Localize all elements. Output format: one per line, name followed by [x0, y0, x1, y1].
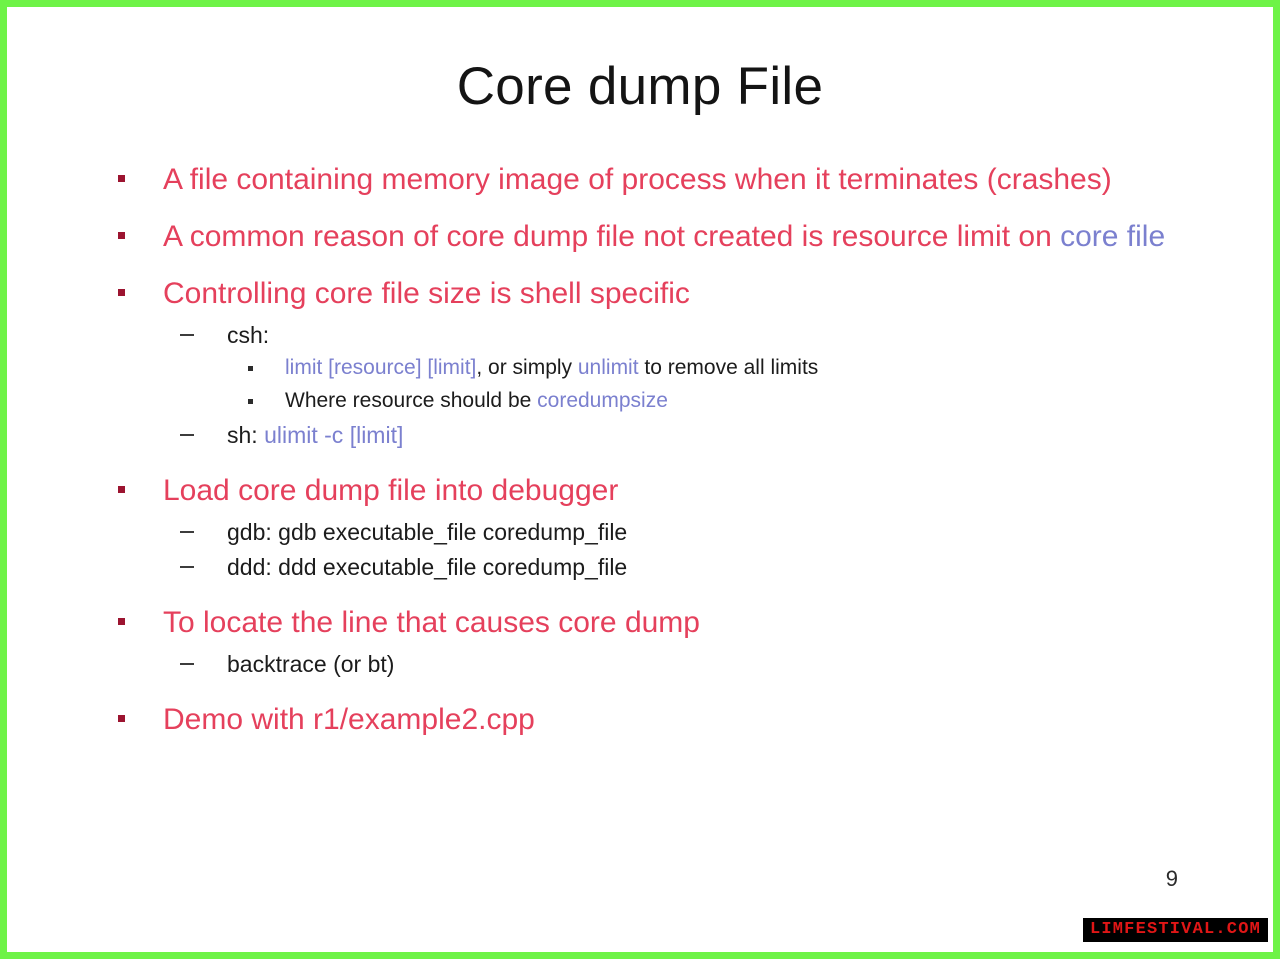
- bullet-text: , or simply: [476, 356, 578, 379]
- watermark-limfestival: LIMFESTIVAL.COM: [1083, 918, 1268, 942]
- bullet-level3-item: limit [resource] [limit], or simply unli…: [105, 353, 1215, 383]
- bullet-level1-item: A file containing memory image of proces…: [105, 159, 1215, 202]
- bullet-text: backtrace (or bt): [227, 651, 394, 677]
- bullet-dash-marker: [180, 663, 194, 665]
- bullet-text: Controlling core file size is shell spec…: [163, 277, 690, 310]
- bullet-level2-item: gdb: gdb executable_file coredump_file: [105, 516, 1215, 549]
- bullet-dash-marker: [180, 434, 194, 436]
- bullet-level2-item: sh: ulimit -c [limit]: [105, 419, 1215, 452]
- bullet-level1-item: Controlling core file size is shell spec…: [105, 273, 1215, 316]
- bullet-level1-item: Demo with r1/example2.cpp: [105, 699, 1215, 742]
- bullet-text: A common reason of core dump file not cr…: [163, 220, 1060, 253]
- slide-frame: Core dump File A file containing memory …: [0, 0, 1280, 959]
- slide-title: Core dump File: [7, 59, 1273, 115]
- bullet-level1-item: To locate the line that causes core dump: [105, 602, 1215, 645]
- bullet-dash-marker: [180, 531, 194, 533]
- bullet-text: To locate the line that causes core dump: [163, 606, 700, 639]
- code-term-coredumpsize: coredumpsize: [537, 389, 668, 412]
- slide-canvas: Core dump File A file containing memory …: [7, 7, 1273, 952]
- bullet-square-marker: [118, 715, 125, 722]
- bullet-square-marker: [118, 175, 125, 182]
- bullet-text: csh:: [227, 322, 269, 348]
- bullet-text: Where resource should be: [285, 389, 537, 412]
- bullet-text: to remove all limits: [639, 356, 819, 379]
- code-term-limit: limit [resource] [limit]: [285, 356, 476, 379]
- bullet-square-marker: [118, 289, 125, 296]
- bullet-text: ddd: ddd executable_file coredump_file: [227, 554, 627, 580]
- bullet-level3-item: Where resource should be coredumpsize: [105, 386, 1215, 416]
- bullet-dash-marker: [180, 566, 194, 568]
- bullet-text: sh:: [227, 422, 264, 448]
- bullet-square-marker: [118, 232, 125, 239]
- bullet-square-marker: [118, 486, 125, 493]
- code-term-ulimit: ulimit -c [limit]: [264, 422, 403, 448]
- bullet-text: Demo with r1/example2.cpp: [163, 703, 535, 736]
- bullet-square-marker: [118, 618, 125, 625]
- bullet-dash-marker: [180, 334, 194, 336]
- bullet-square-marker: [248, 399, 253, 404]
- slide-body-content: A file containing memory image of proces…: [105, 159, 1215, 744]
- bullet-level2-item: backtrace (or bt): [105, 648, 1215, 681]
- bullet-text: gdb: gdb executable_file coredump_file: [227, 519, 627, 545]
- bullet-text: A file containing memory image of proces…: [163, 163, 1112, 196]
- bullet-level1-item: Load core dump file into debugger: [105, 470, 1215, 513]
- bullet-text: Load core dump file into debugger: [163, 474, 618, 507]
- bullet-square-marker: [248, 366, 253, 371]
- bullet-level1-item: A common reason of core dump file not cr…: [105, 216, 1215, 259]
- code-term-unlimit: unlimit: [578, 356, 639, 379]
- bullet-level2-item: ddd: ddd executable_file coredump_file: [105, 551, 1215, 584]
- page-number: 9: [1166, 866, 1178, 892]
- bullet-level2-item: csh:: [105, 319, 1215, 352]
- code-term-core-file: core file: [1060, 220, 1165, 253]
